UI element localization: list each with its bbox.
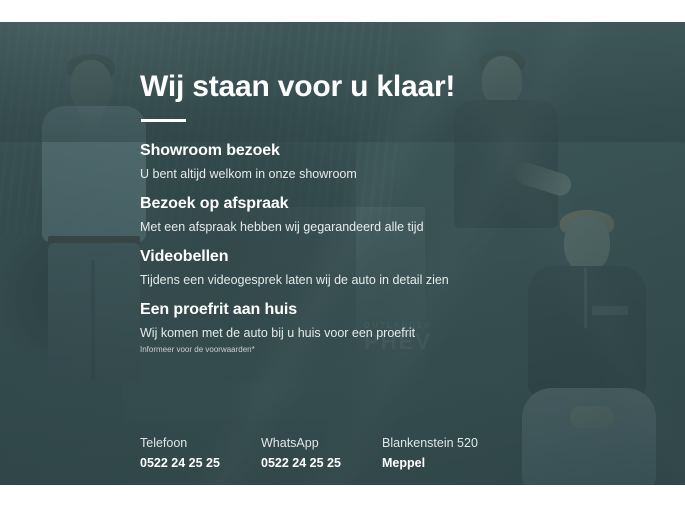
service-title: Showroom bezoek	[140, 140, 640, 162]
contact-street: Blankenstein 520	[382, 434, 542, 452]
title-underline	[141, 119, 186, 122]
service-description: Met een afspraak hebben wij gegarandeerd…	[140, 219, 640, 237]
service-description: Wij komen met de auto bij u huis voor ee…	[140, 325, 640, 343]
page-title: Wij staan voor u klaar!	[140, 70, 640, 103]
service-item-bezoek-op-afspraak: Bezoek op afspraak Met een afspraak hebb…	[140, 193, 640, 236]
contact-value[interactable]: 0522 24 25 25	[140, 454, 261, 472]
contact-telefoon: Telefoon 0522 24 25 25	[140, 434, 261, 472]
service-footnote: Informeer voor de voorwaarden*	[140, 345, 640, 355]
service-title: Videobellen	[140, 246, 640, 268]
service-description: U bent altijd welkom in onze showroom	[140, 166, 640, 184]
service-description: Tijdens een videogesprek laten wij de au…	[140, 272, 640, 290]
banner-content: Wij staan voor u klaar! Showroom bezoek …	[140, 70, 640, 356]
service-title: Bezoek op afspraak	[140, 193, 640, 215]
contact-row: Telefoon 0522 24 25 25 WhatsApp 0522 24 …	[140, 434, 610, 472]
service-item-videobellen: Videobellen Tijdens een videogesprek lat…	[140, 246, 640, 289]
contact-label: Telefoon	[140, 434, 261, 452]
contact-city: Meppel	[382, 454, 542, 472]
service-list: Showroom bezoek U bent altijd welkom in …	[140, 140, 640, 356]
contact-label: WhatsApp	[261, 434, 382, 452]
service-item-proefrit-aan-huis: Een proefrit aan huis Wij komen met de a…	[140, 299, 640, 355]
promo-banner: OUTLANDER PHEV Wij staan voor u klaar! S…	[0, 22, 685, 485]
banner-frame: OUTLANDER PHEV Wij staan voor u klaar! S…	[0, 0, 685, 514]
service-title: Een proefrit aan huis	[140, 299, 640, 321]
contact-address: Blankenstein 520 Meppel	[382, 434, 542, 472]
contact-value[interactable]: 0522 24 25 25	[261, 454, 382, 472]
contact-whatsapp: WhatsApp 0522 24 25 25	[261, 434, 382, 472]
service-item-showroom-bezoek: Showroom bezoek U bent altijd welkom in …	[140, 140, 640, 183]
